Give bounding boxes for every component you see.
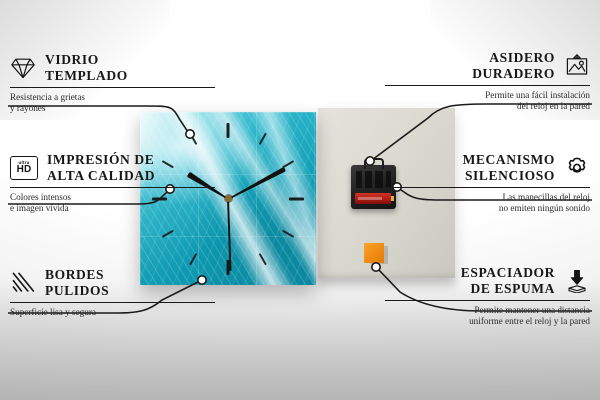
- feature-header: VIDRIO TEMPLADO: [10, 52, 215, 83]
- feature-title: MECANISMO SILENCIOSO: [463, 152, 555, 183]
- feature-subtitle: Resistencia a grietas y rayones: [10, 92, 215, 115]
- feature-mecanismo-silencioso: MECANISMO SILENCIOSO Las manecillas del …: [385, 152, 590, 215]
- picture-hanger-icon: [564, 54, 590, 78]
- feature-title: IMPRESIÓN DE ALTA CALIDAD: [47, 152, 155, 183]
- feature-header: ultra HD IMPRESIÓN DE ALTA CALIDAD: [10, 152, 215, 183]
- feature-header: ASIDERO DURADERO: [385, 50, 590, 81]
- connector-dot-vidrio: [186, 130, 194, 138]
- connector-dot-espaciador: [372, 263, 380, 271]
- feature-divider: [385, 187, 590, 188]
- feature-header: ESPACIADOR DE ESPUMA: [385, 265, 590, 296]
- feature-subtitle: Las manecillas del reloj no emiten ningú…: [385, 192, 590, 215]
- infographic-canvas: VIDRIO TEMPLADO Resistencia a grietas y …: [0, 0, 600, 400]
- feature-subtitle: Colores intensos e imagen vívida: [10, 192, 215, 215]
- feature-subtitle: Superficie lisa y segura: [10, 307, 215, 318]
- feature-title: ESPACIADOR DE ESPUMA: [461, 265, 555, 296]
- feature-divider: [10, 187, 215, 188]
- feature-vidrio-templado: VIDRIO TEMPLADO Resistencia a grietas y …: [10, 52, 215, 115]
- polished-edges-icon: [10, 271, 36, 295]
- diamond-icon: [10, 56, 36, 80]
- feature-subtitle: Permite una fácil instalación del reloj …: [385, 90, 590, 113]
- connector-dot-asidero: [366, 157, 374, 165]
- feature-bordes-pulidos: BORDES PULIDOS Superficie lisa y segura: [10, 267, 215, 318]
- feature-subtitle: Permite mantener una distancia uniforme …: [385, 305, 590, 328]
- feature-asidero-duradero: ASIDERO DURADERO Permite una fácil insta…: [385, 50, 590, 113]
- foam-spacer-arrow-icon: [564, 269, 590, 293]
- feature-espaciador-espuma: ESPACIADOR DE ESPUMA Permite mantener un…: [385, 265, 590, 328]
- feature-divider: [10, 87, 215, 88]
- feature-title: VIDRIO TEMPLADO: [45, 52, 128, 83]
- feature-divider: [385, 300, 590, 301]
- feature-divider: [10, 302, 215, 303]
- feature-title: BORDES PULIDOS: [45, 267, 109, 298]
- feature-divider: [385, 85, 590, 86]
- feature-title: ASIDERO DURADERO: [472, 50, 555, 81]
- ultra-hd-badge-icon: ultra HD: [10, 156, 38, 180]
- badge-hd-text: HD: [17, 165, 32, 175]
- gear-icon: [564, 156, 590, 180]
- feature-header: MECANISMO SILENCIOSO: [385, 152, 590, 183]
- feature-impresion-alta-calidad: ultra HD IMPRESIÓN DE ALTA CALIDAD Color…: [10, 152, 215, 215]
- feature-header: BORDES PULIDOS: [10, 267, 215, 298]
